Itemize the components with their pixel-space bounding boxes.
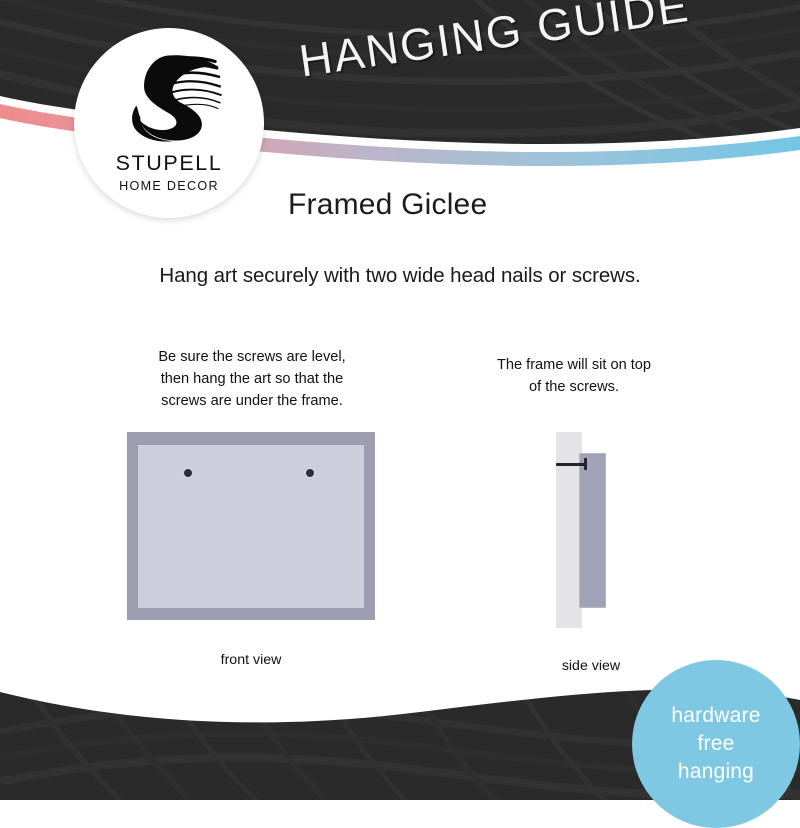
side-view-caption: The frame will sit on top of the screws. — [462, 354, 686, 398]
frame-profile — [579, 453, 606, 608]
badge-line-2: free — [698, 730, 735, 758]
badge-line-3: hanging — [678, 758, 754, 786]
front-view-label: front view — [127, 652, 375, 668]
front-view-artwork-area — [138, 445, 364, 608]
side-view-diagram — [556, 432, 626, 628]
product-type-heading: Framed Giclee — [288, 188, 487, 222]
lead-instruction: Hang art securely with two wide head nai… — [0, 264, 800, 288]
screw-shaft-icon — [556, 463, 587, 466]
screw-dot-left-icon — [184, 469, 192, 477]
brand-name: STUPELL — [116, 153, 223, 175]
screw-dot-right-icon — [306, 469, 314, 477]
screw-head-icon — [584, 458, 587, 470]
page-title: HANGING GUIDE — [296, 0, 693, 87]
front-view-caption: Be sure the screws are level, then hang … — [123, 346, 381, 413]
brand-tagline: HOME DECOR — [119, 180, 219, 193]
hardware-free-hanging-badge: hardware free hanging — [632, 660, 800, 828]
side-view-label: side view — [520, 658, 662, 674]
stupell-swoosh-s-logo-icon — [111, 48, 227, 144]
badge-line-1: hardware — [671, 702, 760, 730]
brand-logo-badge: STUPELL HOME DECOR — [74, 28, 264, 218]
front-view-diagram — [127, 432, 375, 620]
